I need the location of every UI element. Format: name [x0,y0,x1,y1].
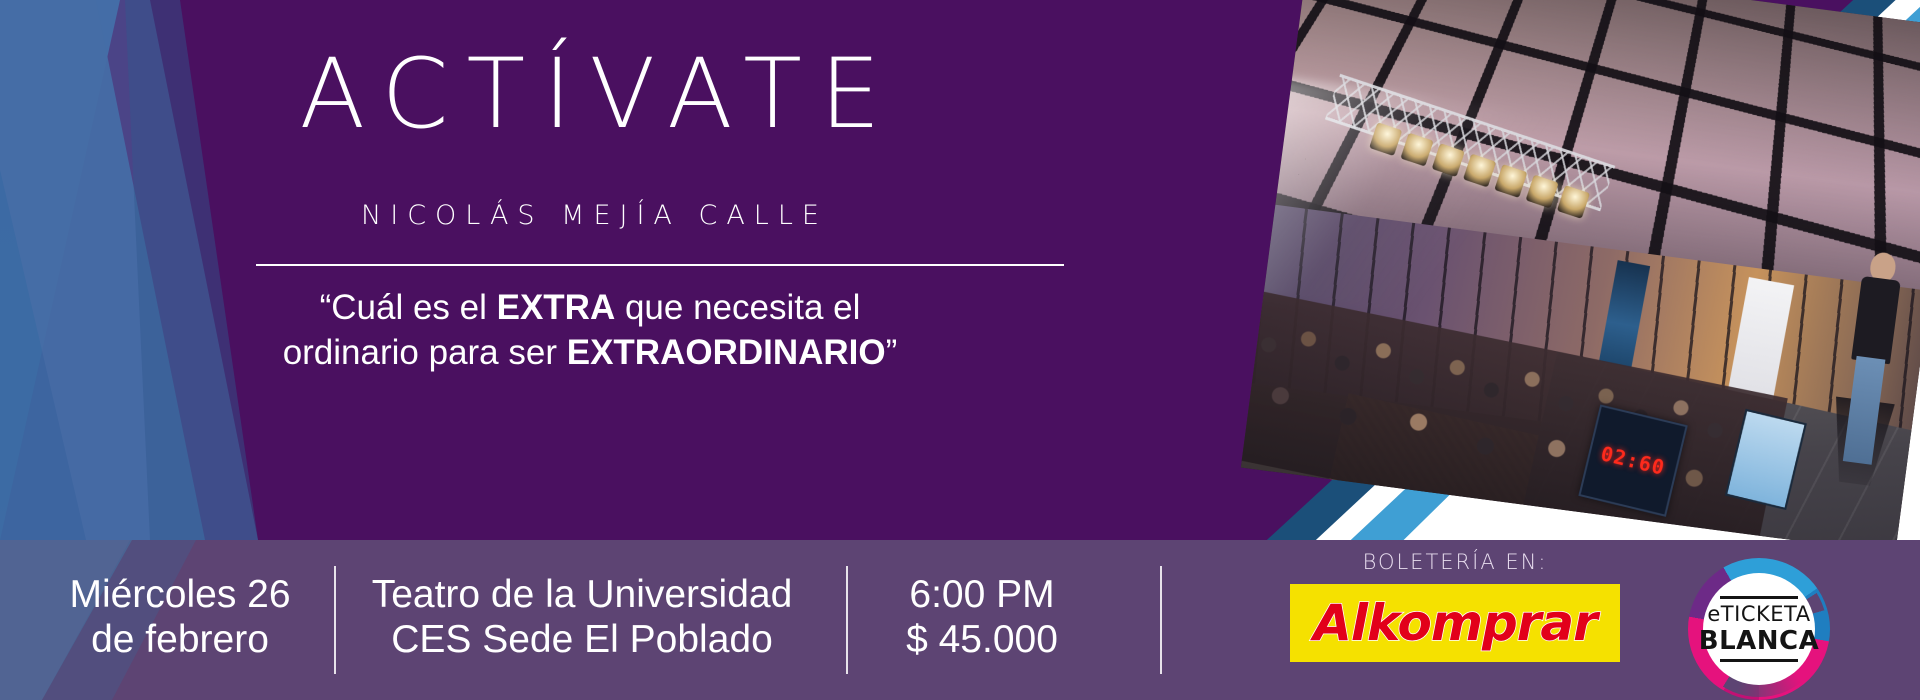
event-venue: Teatro de la Universidad CES Sede El Pob… [352,572,812,662]
title-divider [256,264,1064,266]
eticketa-logo-line-2: BLANCA [1699,626,1819,656]
event-title: ACTÍVATE [0,46,1180,142]
main-content: ACTÍVATE NICOLÁS MEJÍA CALLE “Cuál es el… [0,0,1180,540]
quote-line-2: ordinario para ser EXTRAORDINARIO” [0,331,1180,376]
event-quote: “Cuál es el EXTRA que necesita el ordina… [0,286,1180,376]
speaker-body [1851,276,1901,365]
event-date-line-2: de febrero [30,617,330,662]
event-price: $ 45.000 [852,617,1112,662]
ticketing-label: BOLETERÍA EN: [1290,550,1620,574]
divider-vertical-1 [334,566,336,674]
photo-composition: 02:60 [1160,0,1920,600]
eticketa-logo-line-1: eTICKETA [1707,602,1810,626]
event-time: 6:00 PM [852,572,1112,617]
eticketa-rule-bottom [1720,659,1798,662]
countdown-timer-value: 02:60 [1599,442,1668,481]
quote-text-2b: ” [886,333,898,372]
alkomprar-logo-text: Alkomprar [1313,594,1597,652]
quote-line-1: “Cuál es el EXTRA que necesita el [0,286,1180,331]
event-photo: 02:60 [1241,0,1920,554]
quote-bold-extra: EXTRA [497,288,616,327]
event-photo-frame: 02:60 [1241,0,1920,554]
event-banner: 02:60 ACTÍVATE NICOLÁS MEJÍA CALLE “Cuál… [0,0,1920,700]
ticketing-section: BOLETERÍA EN: Alkomprar [1290,550,1620,662]
quote-text-1b: que necesita el [615,288,860,327]
event-venue-line-2: CES Sede El Poblado [352,617,812,662]
event-details-bar: Miércoles 26 de febrero Teatro de la Uni… [0,540,1920,700]
event-time-and-price: 6:00 PM $ 45.000 [852,572,1112,662]
divider-vertical-3 [1160,566,1162,674]
event-date: Miércoles 26 de febrero [30,572,330,662]
eticketa-logo-disc: eTICKETA BLANCA [1703,573,1815,685]
quote-bold-extraordinario: EXTRAORDINARIO [567,333,886,372]
event-venue-line-1: Teatro de la Universidad [352,572,812,617]
eticketa-blanca-logo[interactable]: eTICKETA BLANCA [1688,558,1830,700]
eticketa-rule-top [1720,596,1798,599]
divider-vertical-2 [846,566,848,674]
quote-text-2a: ordinario para ser [283,333,567,372]
speaker-name: NICOLÁS MEJÍA CALLE [0,200,1180,231]
alkomprar-logo[interactable]: Alkomprar [1290,584,1620,662]
quote-text-1a: “Cuál es el [320,288,497,327]
speaker-legs [1843,356,1886,465]
event-date-line-1: Miércoles 26 [30,572,330,617]
